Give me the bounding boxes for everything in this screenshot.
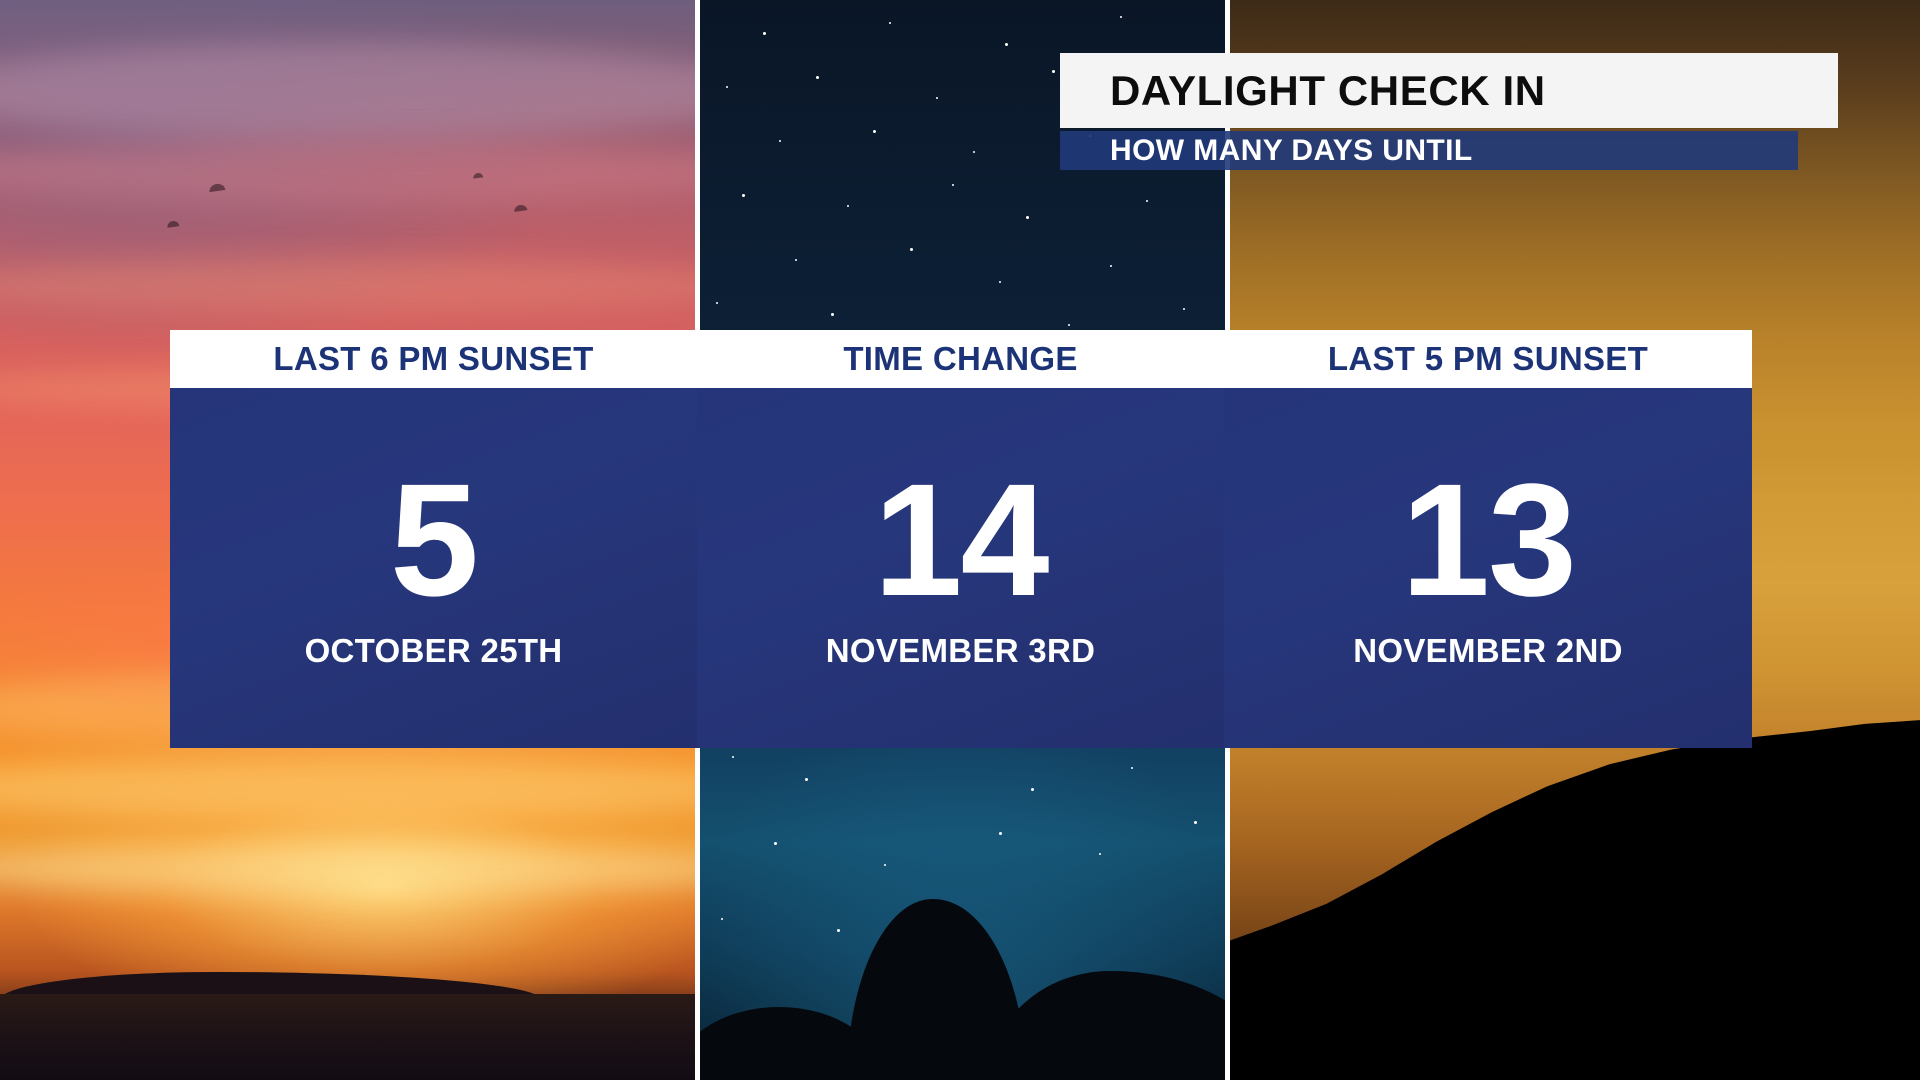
panel-header: LAST 5 PM SUNSET <box>1224 330 1752 388</box>
daylight-check-in-graphic: DAYLIGHT CHECK IN HOW MANY DAYS UNTIL LA… <box>0 0 1920 1080</box>
panel-days-count: 13 <box>1401 466 1575 613</box>
panel-header-label: TIME CHANGE <box>843 340 1077 378</box>
panel-header-label: LAST 6 PM SUNSET <box>273 340 593 378</box>
panel-header: TIME CHANGE <box>697 330 1224 388</box>
panel-header-label: LAST 5 PM SUNSET <box>1328 340 1648 378</box>
panel-body: 13 NOVEMBER 2ND <box>1224 388 1752 748</box>
panel-date-label: NOVEMBER 2ND <box>1353 632 1622 670</box>
panel-days-count: 14 <box>874 466 1048 613</box>
panel-body: 5 OCTOBER 25TH <box>170 388 697 748</box>
countdown-panel-row: LAST 6 PM SUNSET 5 OCTOBER 25TH TIME CHA… <box>170 330 1752 748</box>
countdown-panel-last-5pm-sunset: LAST 5 PM SUNSET 13 NOVEMBER 2ND <box>1224 330 1752 748</box>
panel-body: 14 NOVEMBER 3RD <box>697 388 1224 748</box>
title-block: DAYLIGHT CHECK IN HOW MANY DAYS UNTIL <box>1060 53 1838 170</box>
panel-days-count: 5 <box>390 466 477 613</box>
page-subtitle: HOW MANY DAYS UNTIL <box>1110 134 1473 168</box>
countdown-panel-last-6pm-sunset: LAST 6 PM SUNSET 5 OCTOBER 25TH <box>170 330 697 748</box>
title-bar: DAYLIGHT CHECK IN <box>1060 53 1838 128</box>
panel-header: LAST 6 PM SUNSET <box>170 330 697 388</box>
panel-date-label: OCTOBER 25TH <box>305 632 563 670</box>
subtitle-bar: HOW MANY DAYS UNTIL <box>1060 131 1798 170</box>
page-title: DAYLIGHT CHECK IN <box>1110 67 1546 115</box>
countdown-panel-time-change: TIME CHANGE 14 NOVEMBER 3RD <box>697 330 1224 748</box>
panel-date-label: NOVEMBER 3RD <box>826 632 1095 670</box>
